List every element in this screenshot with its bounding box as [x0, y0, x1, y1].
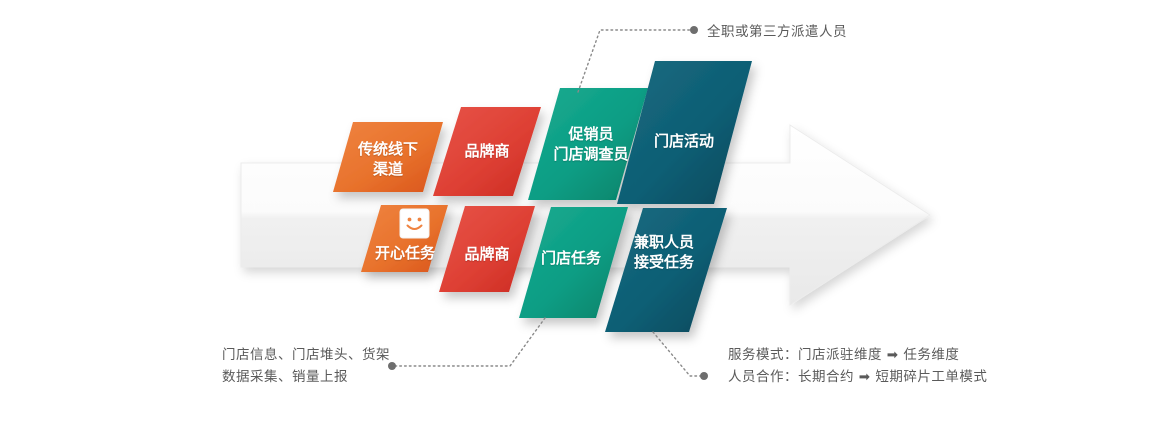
connector-dot-top-right — [690, 26, 698, 34]
annotation-line: 数据采集、销量上报 — [222, 366, 390, 388]
annotation-service-mode: 服务模式：门店派驻维度 ➡ 任务维度 人员合作：长期合约 ➡ 短期碎片工单模式 — [728, 344, 987, 388]
annotation-data-collection: 门店信息、门店堆头、货架 数据采集、销量上报 — [222, 344, 390, 388]
connector-bottom-right — [653, 332, 708, 380]
diagram-canvas: 传统线下 渠道 品牌商 促销员 门店调查员 门店活动 开心任务 品牌商 门店任务… — [0, 0, 1150, 430]
annotation-line: 服务模式：门店派驻维度 ➡ 任务维度 — [728, 344, 987, 366]
annotation-staffing: 全职或第三方派遣人员 — [707, 21, 847, 43]
annotation-line: 人员合作：长期合约 ➡ 短期碎片工单模式 — [728, 366, 987, 388]
connector-bottom-left — [388, 318, 545, 370]
smiley-face-icon — [400, 209, 429, 238]
annotation-line: 门店信息、门店堆头、货架 — [222, 344, 390, 366]
annotation-line: 全职或第三方派遣人员 — [707, 21, 847, 43]
connector-dot-bottom-right — [700, 372, 708, 380]
